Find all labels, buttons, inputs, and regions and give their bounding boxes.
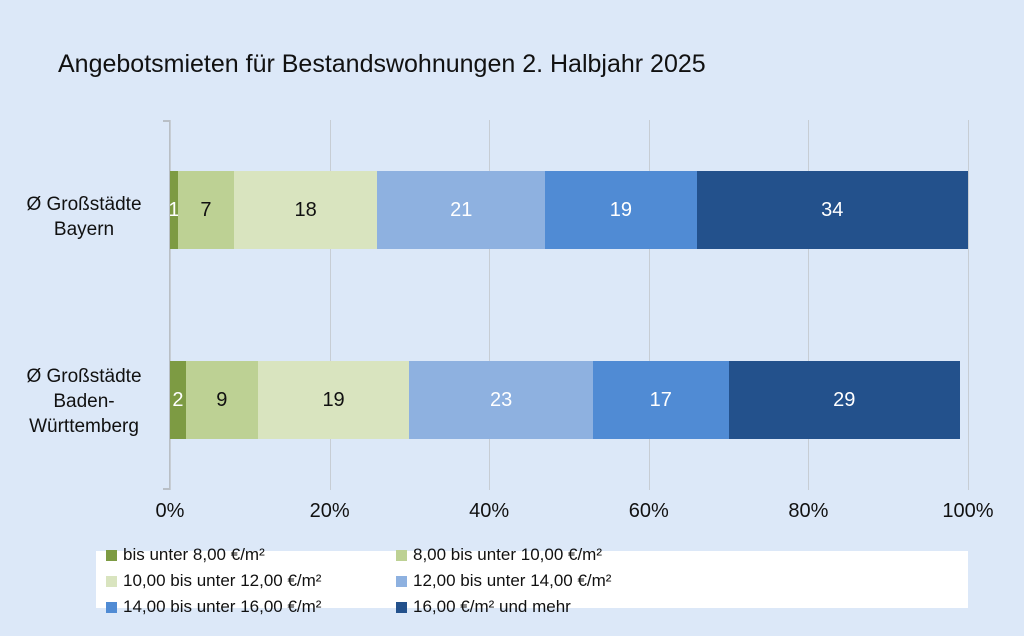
plot-area: 17182119342919231729 xyxy=(170,120,968,490)
bar-segment[interactable]: 21 xyxy=(377,171,545,249)
x-axis-tick-label: 40% xyxy=(449,500,529,523)
legend-swatch-icon xyxy=(106,550,117,561)
bar-segment[interactable]: 19 xyxy=(545,171,697,249)
legend-item[interactable]: 14,00 bis unter 16,00 €/m² xyxy=(106,594,396,620)
category-label: Ø GroßstädteBayern xyxy=(4,192,164,242)
bar-segment[interactable]: 19 xyxy=(258,361,410,439)
category-label-line: Baden- xyxy=(4,389,164,414)
x-axis-tick-label: 60% xyxy=(609,500,689,523)
category-label-line: Ø Großstädte xyxy=(4,192,164,217)
legend-swatch-icon xyxy=(106,602,117,613)
category-label-line: Ø Großstädte xyxy=(4,364,164,389)
bar-segment-value: 7 xyxy=(200,200,211,220)
bar-segment-value: 23 xyxy=(490,390,512,410)
legend-label: 8,00 bis unter 10,00 €/m² xyxy=(413,545,602,565)
legend-label: 12,00 bis unter 14,00 €/m² xyxy=(413,571,611,591)
legend-label: 10,00 bis unter 12,00 €/m² xyxy=(123,571,321,591)
bar-segment-value: 17 xyxy=(650,390,672,410)
chart-legend: bis unter 8,00 €/m²8,00 bis unter 10,00 … xyxy=(96,551,968,608)
legend-swatch-icon xyxy=(396,550,407,561)
category-label-line: Württemberg xyxy=(4,414,164,439)
chart-title: Angebotsmieten für Bestandswohnungen 2. … xyxy=(58,50,706,79)
bar-segment-value: 2 xyxy=(172,390,183,410)
bar-segment[interactable]: 7 xyxy=(178,171,234,249)
bar-segment[interactable]: 29 xyxy=(729,361,960,439)
bar-segment[interactable]: 18 xyxy=(234,171,378,249)
legend-item[interactable]: bis unter 8,00 €/m² xyxy=(106,542,396,568)
legend-item[interactable]: 8,00 bis unter 10,00 €/m² xyxy=(396,542,686,568)
bar-segment-value: 18 xyxy=(295,200,317,220)
bar-segment[interactable]: 34 xyxy=(697,171,968,249)
category-label-line: Bayern xyxy=(4,217,164,242)
x-axis-tick-label: 80% xyxy=(768,500,848,523)
category-label: Ø GroßstädteBaden-Württemberg xyxy=(4,364,164,439)
bar-segment-value: 21 xyxy=(450,200,472,220)
legend-label: 16,00 €/m² und mehr xyxy=(413,597,571,617)
legend-item[interactable]: 12,00 bis unter 14,00 €/m² xyxy=(396,568,686,594)
gridline xyxy=(968,120,969,490)
bar-segment-value: 29 xyxy=(833,390,855,410)
x-axis-tick-label: 20% xyxy=(290,500,370,523)
bar-segment-value: 19 xyxy=(322,390,344,410)
x-axis-tick-label: 0% xyxy=(130,500,210,523)
bar-segment[interactable]: 2 xyxy=(170,361,186,439)
bar-segment-value: 1 xyxy=(170,200,178,220)
legend-swatch-icon xyxy=(396,602,407,613)
legend-label: bis unter 8,00 €/m² xyxy=(123,545,265,565)
bar-segment[interactable]: 23 xyxy=(409,361,593,439)
bar-segment-value: 19 xyxy=(610,200,632,220)
legend-item[interactable]: 10,00 bis unter 12,00 €/m² xyxy=(106,568,396,594)
bar-row[interactable]: 1718211934 xyxy=(170,171,968,249)
bar-segment-value: 34 xyxy=(821,200,843,220)
bar-segment[interactable]: 1 xyxy=(170,171,178,249)
legend-swatch-icon xyxy=(106,576,117,587)
legend-label: 14,00 bis unter 16,00 €/m² xyxy=(123,597,321,617)
legend-swatch-icon xyxy=(396,576,407,587)
legend-item[interactable]: 16,00 €/m² und mehr xyxy=(396,594,686,620)
bar-segment[interactable]: 9 xyxy=(186,361,258,439)
chart-container: Angebotsmieten für Bestandswohnungen 2. … xyxy=(0,0,1024,636)
bar-row[interactable]: 2919231729 xyxy=(170,361,968,439)
bar-segment[interactable]: 17 xyxy=(593,361,729,439)
x-axis-tick-label: 100% xyxy=(928,500,1008,523)
bar-segment-value: 9 xyxy=(216,390,227,410)
